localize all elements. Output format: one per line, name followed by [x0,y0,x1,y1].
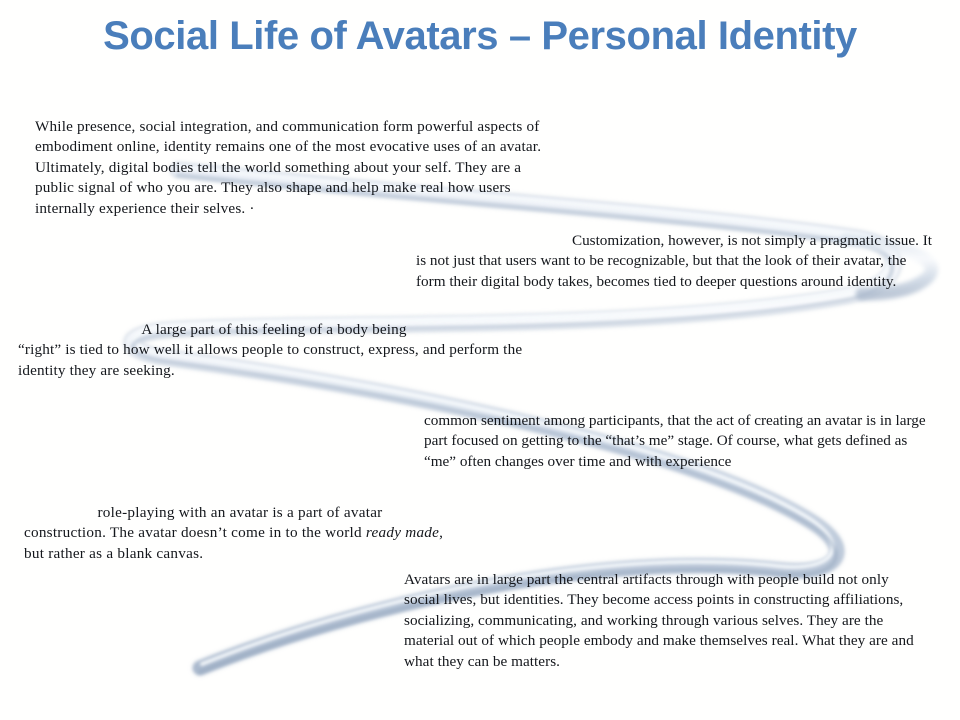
text-excerpt-6: Avatars are in large part the central ar… [404,570,912,672]
excerpt-line: identity they are seeking. [18,361,530,381]
excerpt-line-part: , [439,524,443,541]
text-excerpt-4: common sentiment among participants, tha… [424,411,932,472]
excerpt-line: internally experience their selves. · [35,199,547,219]
excerpt-line: Customization, however, is not simply a … [416,231,932,251]
excerpt-line: is not just that users want to be recogn… [416,251,932,271]
excerpt-line: While presence, social integration, and … [35,117,547,137]
excerpt-emphasis: ready made [366,524,439,541]
excerpt-line: role-playing with an avatar is a part of… [24,503,456,523]
excerpt-line: but rather as a blank canvas. [24,544,456,564]
excerpt-line: social lives, but identities. They becom… [404,590,912,610]
excerpt-line: public signal of who you are. They also … [35,178,547,198]
page-title: Social Life of Avatars – Personal Identi… [0,12,960,60]
excerpt-line-part: construction. The avatar doesn’t come in… [24,524,366,541]
text-excerpt-1: While presence, social integration, and … [35,117,547,219]
text-excerpt-2: Customization, however, is not simply a … [416,231,932,292]
text-excerpt-3: A large part of this feeling of a body b… [18,320,530,381]
excerpt-line: Avatars are in large part the central ar… [404,570,912,590]
excerpt-line: what they can be matters. [404,652,912,672]
excerpt-line: common sentiment among participants, tha… [424,411,932,431]
excerpt-line: part focused on getting to the “that’s m… [424,431,932,451]
excerpt-line: “me” often changes over time and with ex… [424,452,932,472]
excerpt-line: Ultimately, digital bodies tell the worl… [35,158,547,178]
excerpt-line: A large part of this feeling of a body b… [18,320,530,340]
excerpt-line: material out of which people embody and … [404,631,912,651]
excerpt-line: form their digital body takes, becomes t… [416,272,932,292]
slide-canvas: Social Life of Avatars – Personal Identi… [0,0,960,720]
excerpt-line: “right” is tied to how well it allows pe… [18,340,530,360]
text-excerpt-5: role-playing with an avatar is a part of… [24,503,456,564]
excerpt-line: embodiment online, identity remains one … [35,137,547,157]
excerpt-line-italic-run: construction. The avatar doesn’t come in… [24,523,456,543]
excerpt-line: socializing, communicating, and working … [404,611,912,631]
